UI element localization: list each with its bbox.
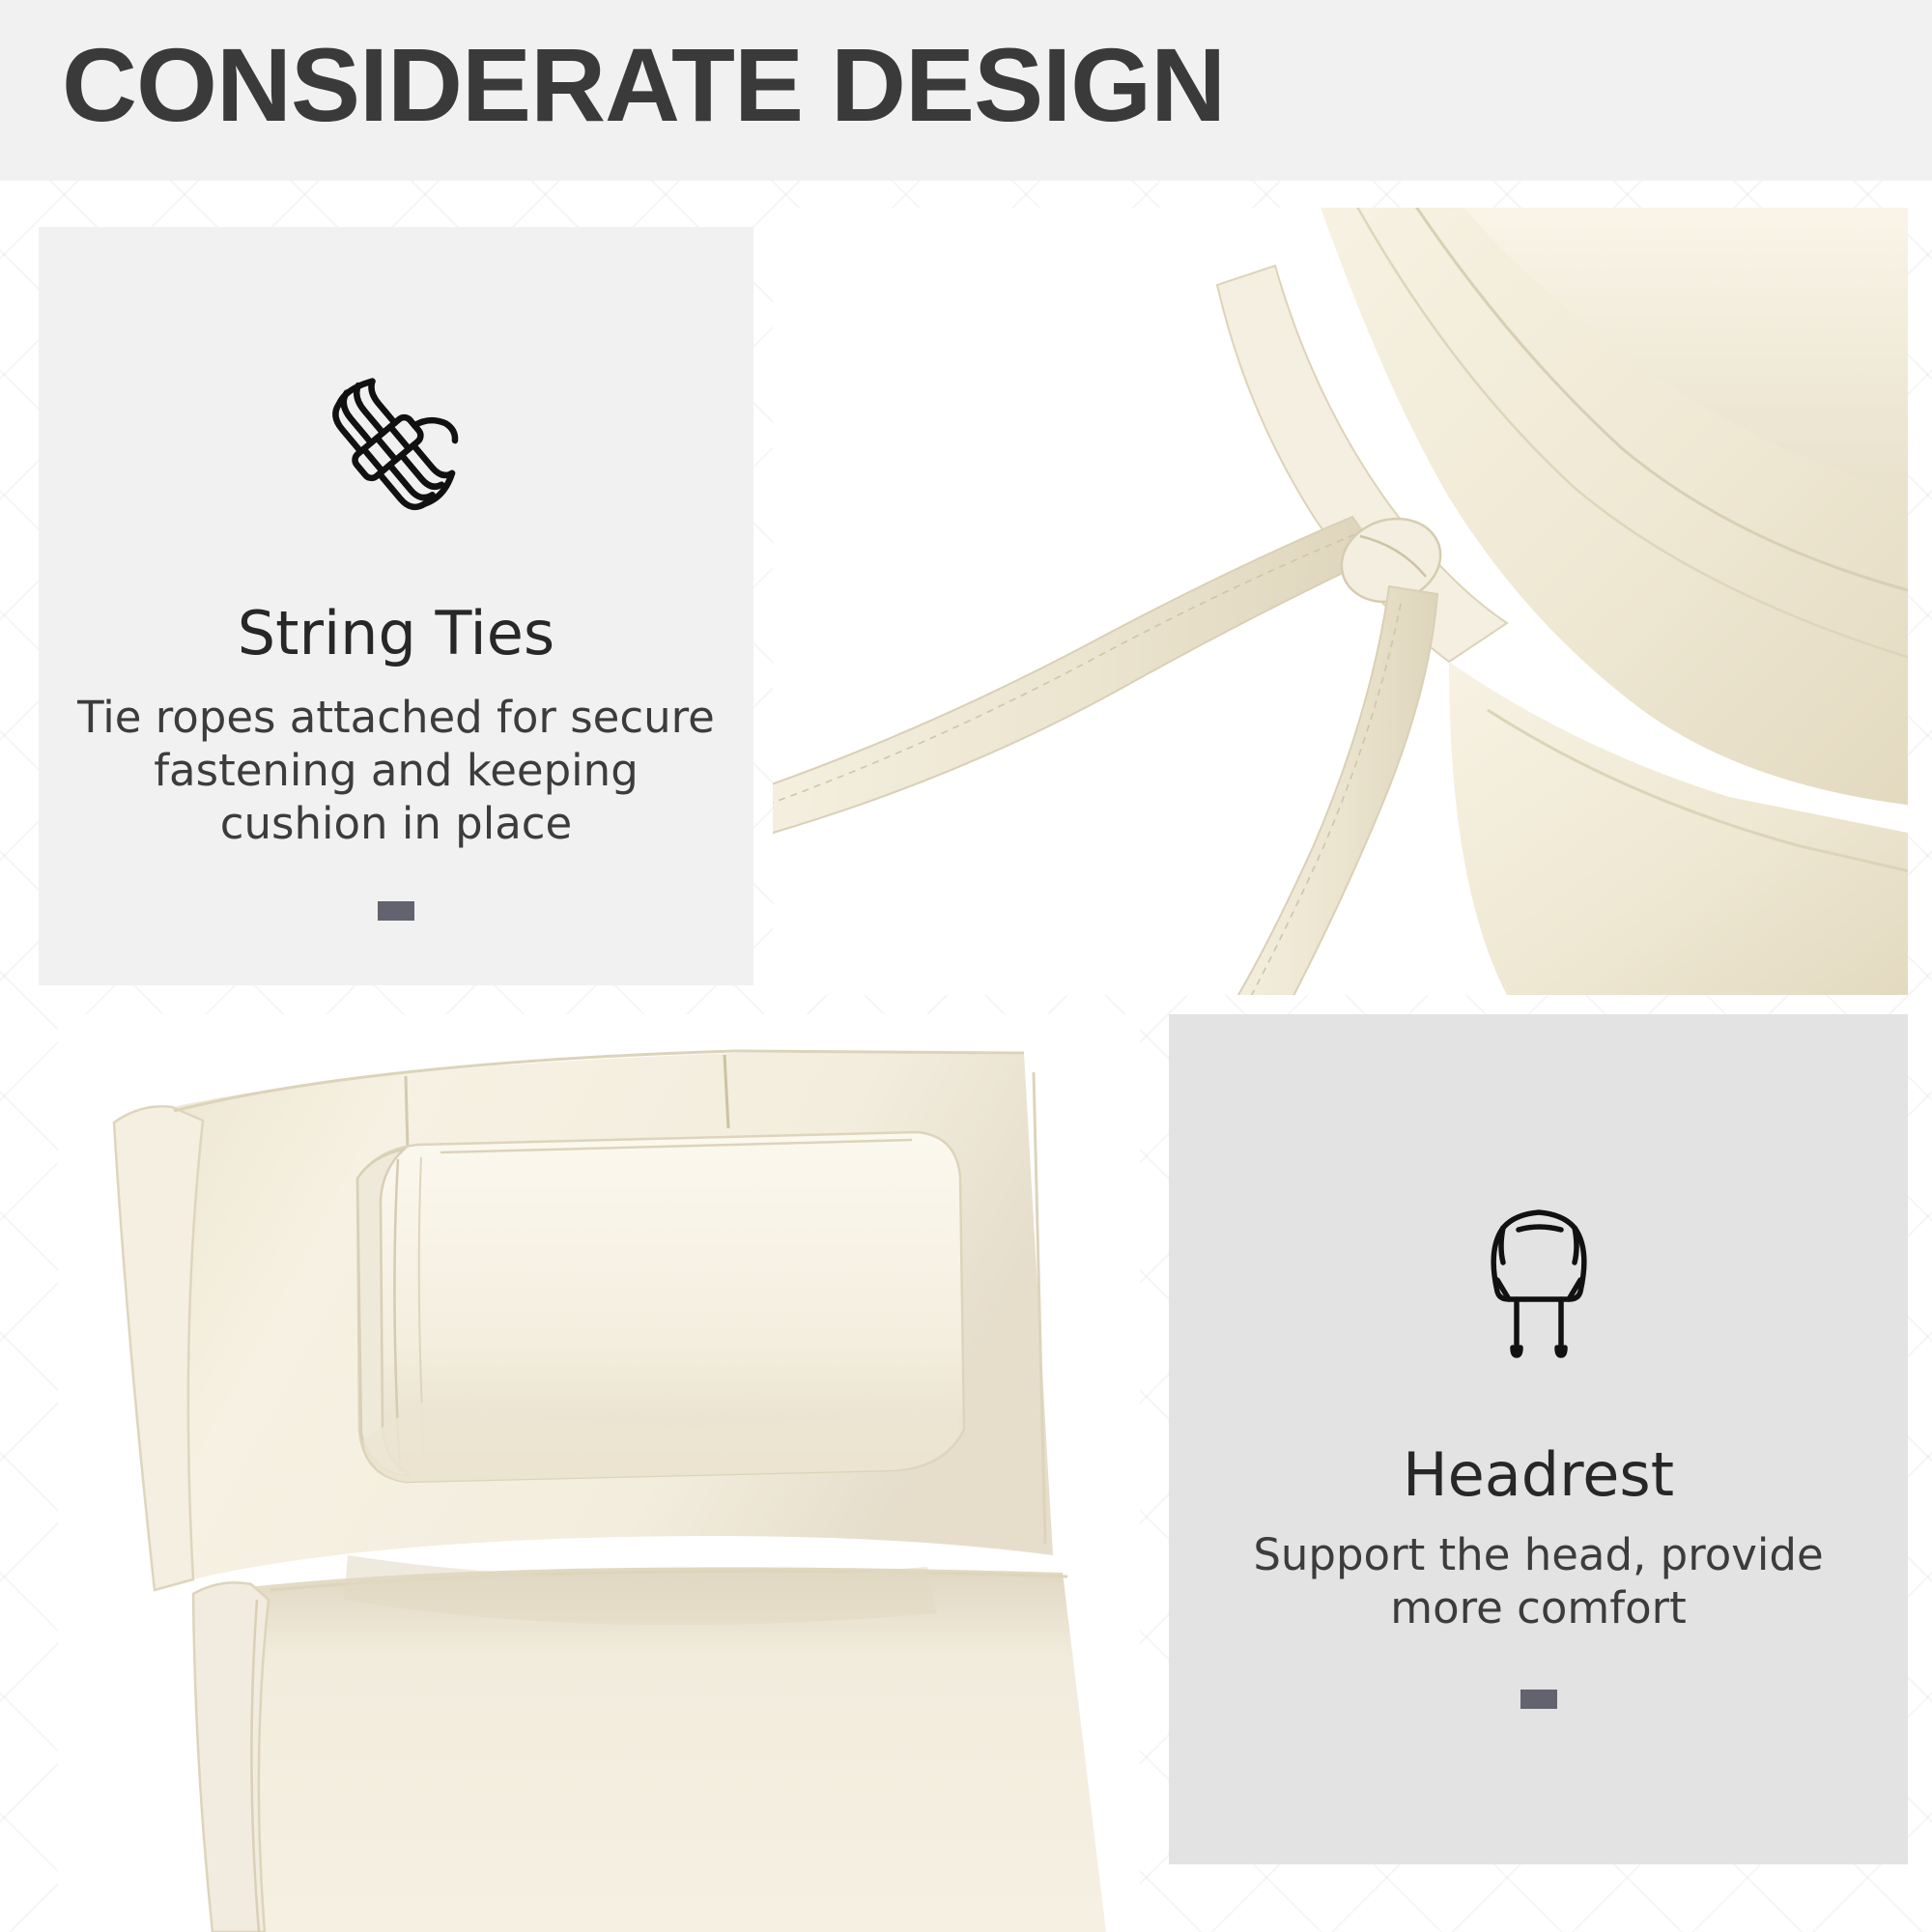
feature-card-headrest: Headrest Support the head, provide more …	[1169, 1014, 1908, 1864]
page-title: CONSIDERATE DESIGN	[62, 23, 1225, 146]
feature-marker-headrest	[1520, 1690, 1557, 1709]
icon-container-headrest	[1447, 1188, 1631, 1377]
cushion-tie-photo-illustration	[773, 208, 1908, 995]
infographic-page: CONSIDERATE DESIGN	[0, 0, 1932, 1932]
feature-title-headrest: Headrest	[1403, 1442, 1674, 1508]
photo-string-ties	[773, 208, 1908, 995]
lounger-cushion-photo-illustration	[58, 1014, 1140, 1932]
icon-container-string-ties	[307, 338, 486, 541]
feature-description-string-ties: Tie ropes attached for secure fastening …	[68, 692, 724, 851]
rope-coil-icon	[307, 351, 486, 529]
feature-description-headrest: Support the head, provide more comfort	[1206, 1529, 1872, 1635]
feature-marker-string-ties	[378, 901, 414, 921]
headrest-icon	[1447, 1191, 1631, 1375]
feature-card-string-ties: String Ties Tie ropes attached for secur…	[39, 227, 753, 985]
photo-headrest	[58, 1014, 1140, 1932]
feature-title-string-ties: String Ties	[238, 601, 554, 667]
